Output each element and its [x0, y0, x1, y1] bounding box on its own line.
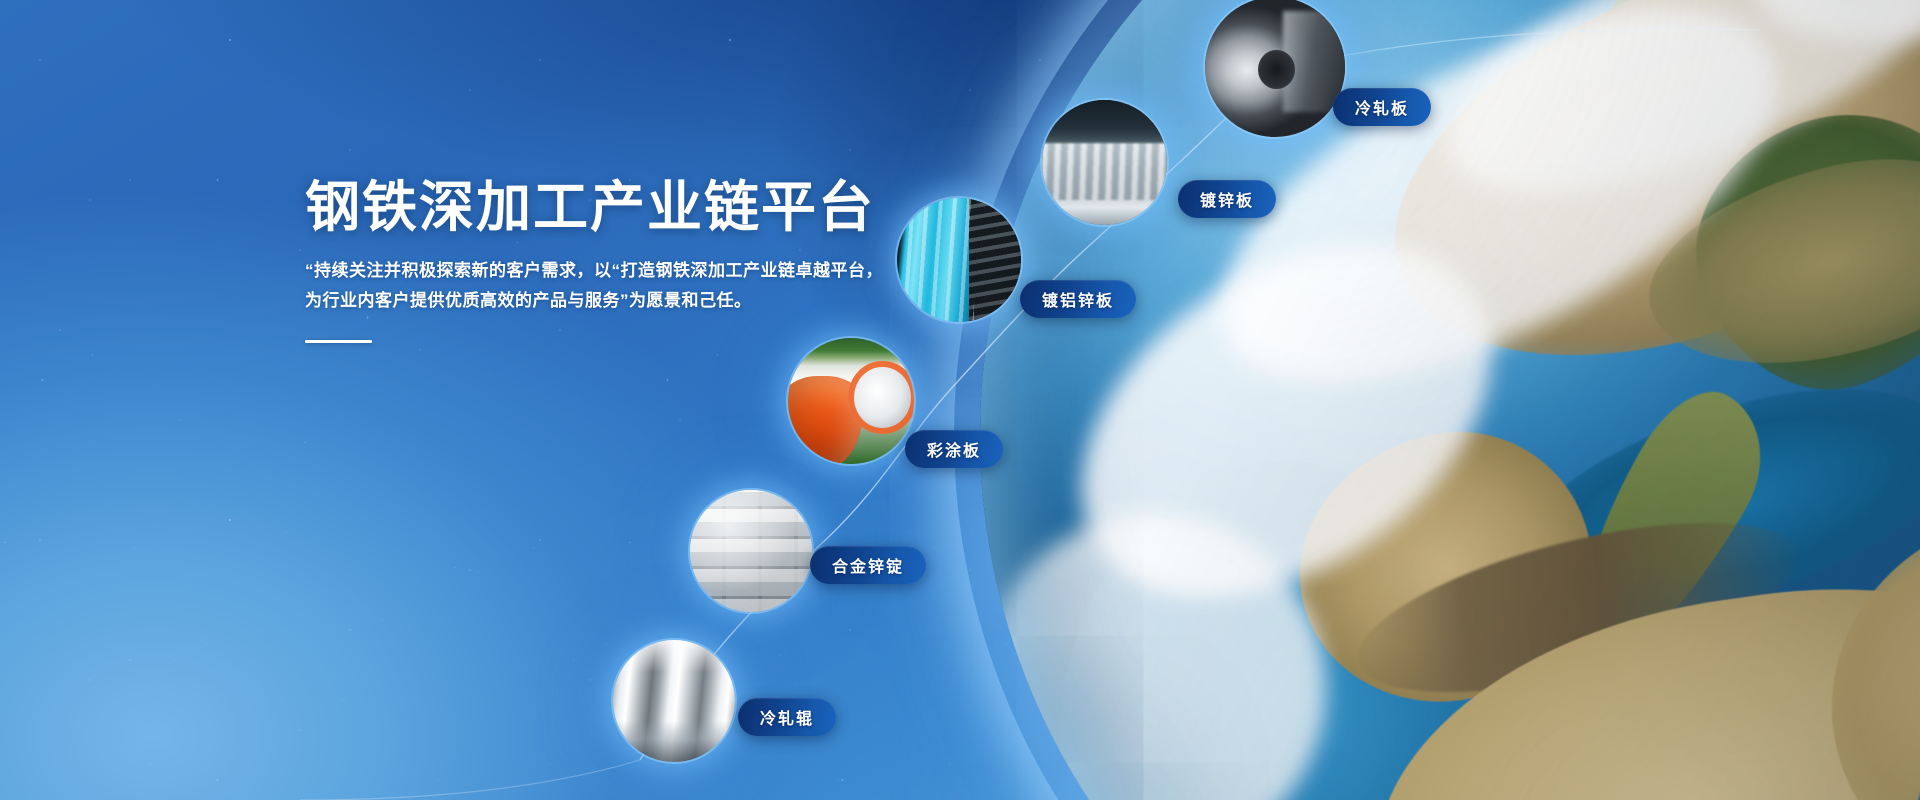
- subtitle-line-2: 为行业内客户提供优质高效的产品与服务”为愿景和己任。: [305, 291, 752, 310]
- page-title: 钢铁深加工产业链平台: [305, 178, 945, 236]
- cyan-coil-photo-icon[interactable]: [897, 198, 1021, 322]
- steel-coil-photo-icon[interactable]: [1205, 0, 1345, 137]
- product-label-alu-zinc-plate[interactable]: 镀铝锌板: [1020, 280, 1136, 318]
- zinc-ingot-photo-icon[interactable]: [690, 490, 812, 612]
- headline-block: 钢铁深加工产业链平台 “持续关注并积极探索新的客户需求，以“打造钢铁深加工产业链…: [305, 178, 945, 343]
- product-label-cold-rolling-roll[interactable]: 冷轧辊: [738, 698, 836, 736]
- hero-banner: 钢铁深加工产业链平台 “持续关注并积极探索新的客户需求，以“打造钢铁深加工产业链…: [0, 0, 1920, 800]
- orange-coil-photo-icon[interactable]: [788, 338, 914, 464]
- warehouse-coils-photo-icon[interactable]: [1042, 100, 1167, 225]
- product-label-alloy-zinc-ingot[interactable]: 合金锌锭: [810, 546, 926, 584]
- page-subtitle: “持续关注并积极探索新的客户需求，以“打造钢铁深加工产业链卓越平台， 为行业内客…: [305, 256, 885, 316]
- product-label-color-coated-plate[interactable]: 彩涂板: [905, 430, 1003, 468]
- subtitle-line-1: “持续关注并积极探索新的客户需求，以“打造钢铁深加工产业链卓越平台，: [305, 261, 883, 280]
- product-label-galvanized-plate[interactable]: 镀锌板: [1178, 180, 1276, 218]
- product-label-cold-rolled-plate[interactable]: 冷轧板: [1333, 88, 1431, 126]
- title-divider: [305, 340, 372, 343]
- steel-roll-photo-icon[interactable]: [613, 640, 735, 762]
